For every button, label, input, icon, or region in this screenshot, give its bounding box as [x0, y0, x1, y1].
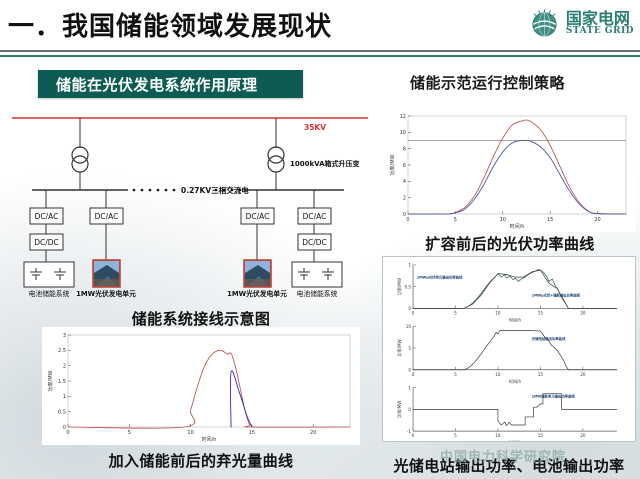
- svg-text:0: 0: [412, 433, 415, 438]
- svg-text:8: 8: [403, 146, 406, 152]
- svg-text:15: 15: [547, 217, 553, 223]
- svg-text:20: 20: [310, 430, 316, 436]
- svg-text:时间/h: 时间/h: [510, 223, 525, 230]
- slide-root: 一．我国储能领域发展现状 国家电网 STATE G: [0, 0, 640, 479]
- svg-text:5: 5: [454, 217, 457, 223]
- svg-text:功率/MW: 功率/MW: [389, 154, 396, 175]
- svg-text:时间/h: 时间/h: [509, 316, 522, 322]
- bus-lv-label: 0.27KV三相交流电: [181, 185, 249, 195]
- svg-text:0: 0: [406, 217, 409, 223]
- svg-text:光储电站输出功率曲线: 光储电站输出功率曲线: [531, 336, 566, 341]
- svg-text:10: 10: [187, 430, 193, 436]
- chart-curtailment-svg: 0510152000.511.522.53时间/h功率/MW: [42, 327, 360, 445]
- svg-text:10: 10: [495, 372, 501, 377]
- svg-text:0: 0: [412, 311, 415, 316]
- svg-text:10: 10: [400, 130, 406, 136]
- converter-dcac-label: DC/AC: [303, 212, 327, 221]
- svg-text:1MWp光伏单元输出功率曲线: 1MWp光伏单元输出功率曲线: [417, 275, 463, 280]
- svg-text:2: 2: [63, 363, 66, 369]
- svg-text:1: 1: [63, 394, 66, 400]
- svg-text:时间/h: 时间/h: [509, 378, 522, 384]
- svg-text:20: 20: [580, 311, 586, 316]
- svg-text:20: 20: [594, 217, 600, 223]
- svg-text:-1: -1: [407, 429, 411, 434]
- svg-text:5: 5: [454, 433, 457, 438]
- sld-svg: 35KV 1000kVA箱式升压变 0.27KV三相交流电: [4, 110, 376, 310]
- svg-text:1: 1: [408, 263, 411, 268]
- slide-header: 一．我国储能领域发展现状 国家电网 STATE G: [0, 0, 640, 52]
- bus-hv-label: 35KV: [304, 123, 326, 132]
- chart-pv-capacity-caption: 扩容前后的光伏功率曲线: [384, 233, 636, 254]
- svg-text:1MWp光伏+储能输出功率曲线: 1MWp光伏+储能输出功率曲线: [532, 293, 581, 298]
- header-divider-teal: [0, 55, 640, 57]
- svg-text:2: 2: [403, 195, 406, 201]
- chart-curtailment-caption: 加入储能前后的弃光量曲线: [42, 450, 360, 471]
- svg-text:1: 1: [408, 385, 411, 390]
- svg-text:10: 10: [500, 217, 506, 223]
- svg-text:0: 0: [412, 372, 415, 377]
- svg-text:0.5: 0.5: [58, 409, 66, 415]
- svg-text:时间/h: 时间/h: [202, 436, 217, 443]
- svg-text:15: 15: [538, 372, 544, 377]
- converter-dcac-label: DC/AC: [35, 212, 59, 221]
- header-divider-gray: [0, 50, 640, 52]
- svg-text:10: 10: [495, 433, 501, 438]
- chart-pv-capacity-svg: 05101520024681012时间/h功率/MW: [384, 108, 636, 232]
- svg-text:1MW储能单元输出功率曲线: 1MW储能单元输出功率曲线: [532, 393, 576, 398]
- left-panel-banner: 储能在光伏发电系统作用原理: [38, 70, 303, 98]
- svg-text:功率/MW: 功率/MW: [47, 370, 54, 391]
- chart-curtailment: 0510152000.511.522.53时间/h功率/MW: [42, 327, 360, 445]
- feeder-label-battery-right: 电池储能系统: [297, 289, 338, 298]
- svg-text:功率/MW: 功率/MW: [396, 401, 402, 418]
- feeder-label-pv-right: 1MW光伏发电单元: [227, 289, 287, 298]
- svg-text:2.5: 2.5: [58, 348, 66, 354]
- converter-dcdc-label: DC/DC: [302, 238, 327, 247]
- svg-text:12: 12: [400, 114, 406, 120]
- svg-text:1.5: 1.5: [58, 379, 66, 385]
- page-title: 一．我国储能领域发展现状: [8, 6, 332, 43]
- pv-panel-photo-left: [93, 260, 120, 287]
- single-line-diagram: 35KV 1000kVA箱式升压变 0.27KV三相交流电: [4, 110, 376, 310]
- state-grid-globe-icon: [528, 7, 561, 40]
- svg-text:5: 5: [408, 346, 411, 351]
- converter-dcac-label: DC/AC: [246, 212, 270, 221]
- left-panel-banner-label: 储能在光伏发电系统作用原理: [56, 74, 258, 95]
- chart-storage-station-svg: 0510152000.51时间/h功率/MW1MWp光伏单元输出功率曲线1MWp…: [383, 257, 635, 441]
- svg-text:4: 4: [403, 179, 406, 185]
- svg-text:0.5: 0.5: [404, 284, 411, 289]
- svg-text:5: 5: [454, 372, 457, 377]
- sld-caption: 储能系统接线示意图: [42, 308, 360, 329]
- svg-text:功率/MW: 功率/MW: [396, 278, 402, 295]
- svg-text:0: 0: [408, 368, 411, 373]
- converter-dcdc-label: DC/DC: [34, 238, 59, 247]
- transformer-label: 1000kVA箱式升压变: [290, 159, 360, 168]
- svg-text:15: 15: [538, 433, 544, 438]
- svg-text:10: 10: [406, 324, 412, 329]
- svg-text:0: 0: [66, 430, 69, 436]
- feeder-label-pv-left: 1MW光伏发电单元: [76, 289, 136, 298]
- converter-dcac-label: DC/AC: [95, 212, 119, 221]
- pv-panel-photo-right: [244, 260, 271, 287]
- svg-text:20: 20: [580, 433, 586, 438]
- svg-text:时间/h: 时间/h: [509, 439, 522, 441]
- svg-text:0: 0: [403, 212, 406, 218]
- watermark-text: 中国电力科学研究院: [440, 446, 566, 465]
- svg-text:0: 0: [408, 306, 411, 311]
- state-grid-logo: 国家电网 STATE GRID: [528, 7, 634, 40]
- feeder-label-battery-left: 电池储能系统: [29, 289, 70, 298]
- svg-text:0: 0: [408, 407, 411, 412]
- svg-text:功率/MW: 功率/MW: [396, 339, 402, 356]
- svg-text:10: 10: [495, 311, 501, 316]
- logo-en-text: STATE GRID: [566, 27, 634, 36]
- right-panel-title: 储能示范运行控制策略: [410, 72, 565, 93]
- chart-storage-station: 0510152000.51时间/h功率/MW1MWp光伏单元输出功率曲线1MWp…: [382, 256, 636, 442]
- chart-pv-capacity: 05101520024681012时间/h功率/MW: [384, 108, 636, 232]
- svg-text:6: 6: [403, 163, 406, 169]
- svg-text:5: 5: [128, 430, 131, 436]
- svg-text:3: 3: [63, 333, 66, 339]
- svg-text:5: 5: [454, 311, 457, 316]
- logo-cn-text: 国家电网: [566, 11, 634, 27]
- svg-text:0: 0: [63, 425, 66, 431]
- svg-text:15: 15: [249, 430, 255, 436]
- svg-text:20: 20: [580, 372, 586, 377]
- svg-text:15: 15: [538, 311, 544, 316]
